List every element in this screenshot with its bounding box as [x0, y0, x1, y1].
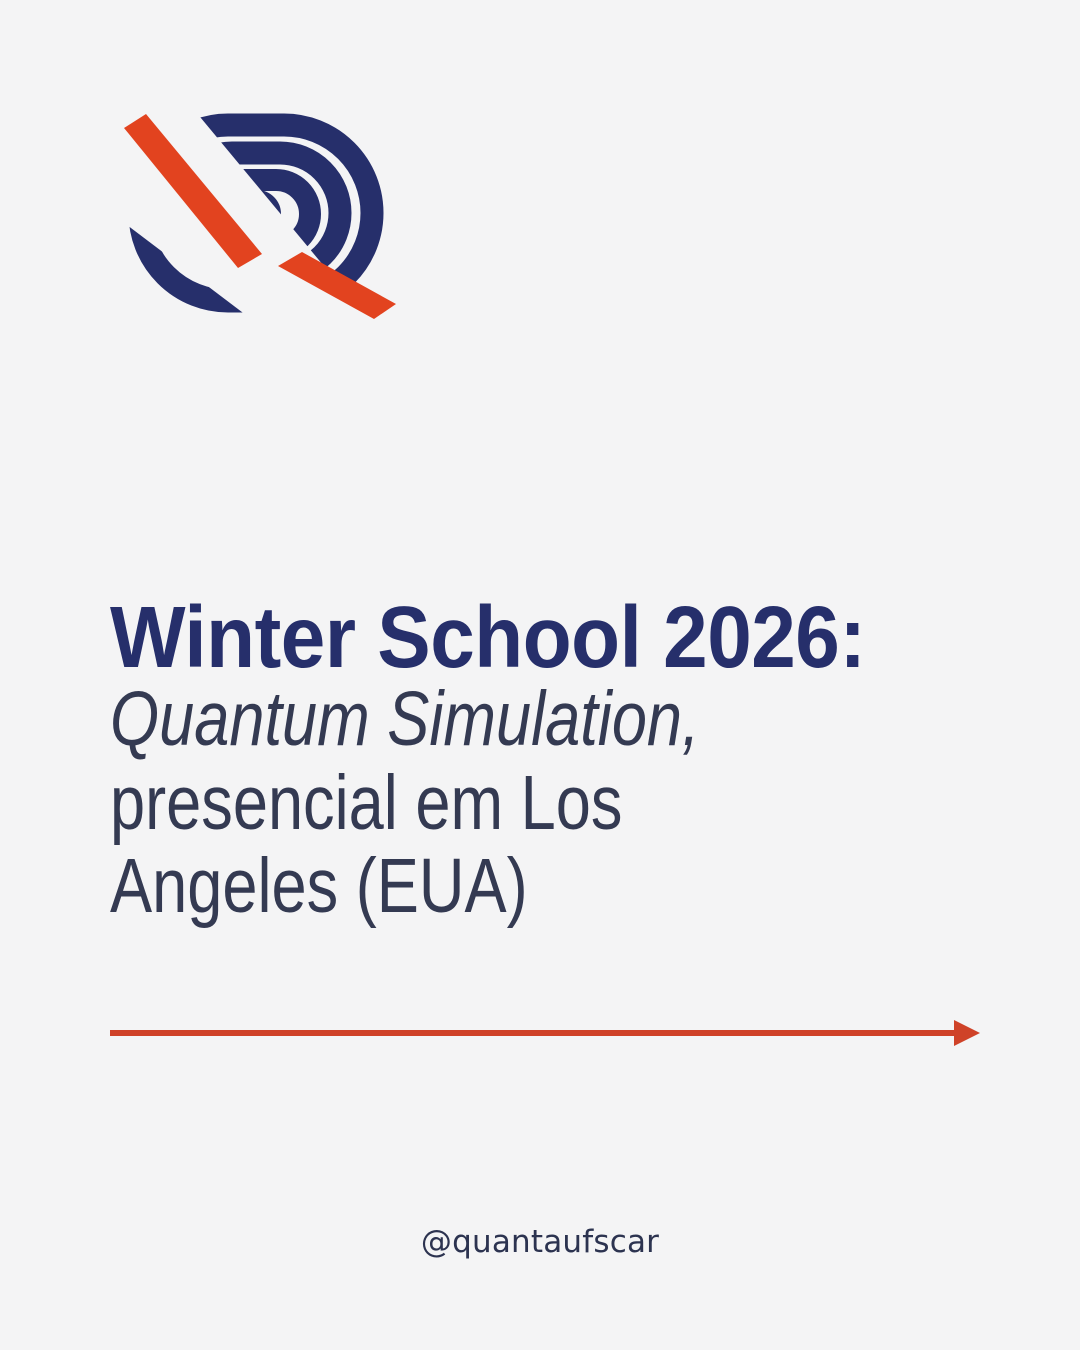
red-arrow-rule — [108, 1012, 980, 1054]
subtitle-line-3: Angeles (EUA) — [110, 845, 848, 928]
page-title: Winter School 2026: — [110, 596, 938, 680]
subtitle-line-2: presencial em Los — [110, 762, 848, 845]
arrow-head-icon — [954, 1020, 980, 1046]
subtitle-line-1: Quantum Simulation, — [110, 678, 848, 761]
headline-block: Winter School 2026: Quantum Simulation, … — [110, 596, 1010, 928]
brand-logo — [114, 108, 404, 323]
account-handle: @quantaufscar — [0, 1224, 1080, 1260]
post-canvas: Winter School 2026: Quantum Simulation, … — [0, 0, 1080, 1350]
